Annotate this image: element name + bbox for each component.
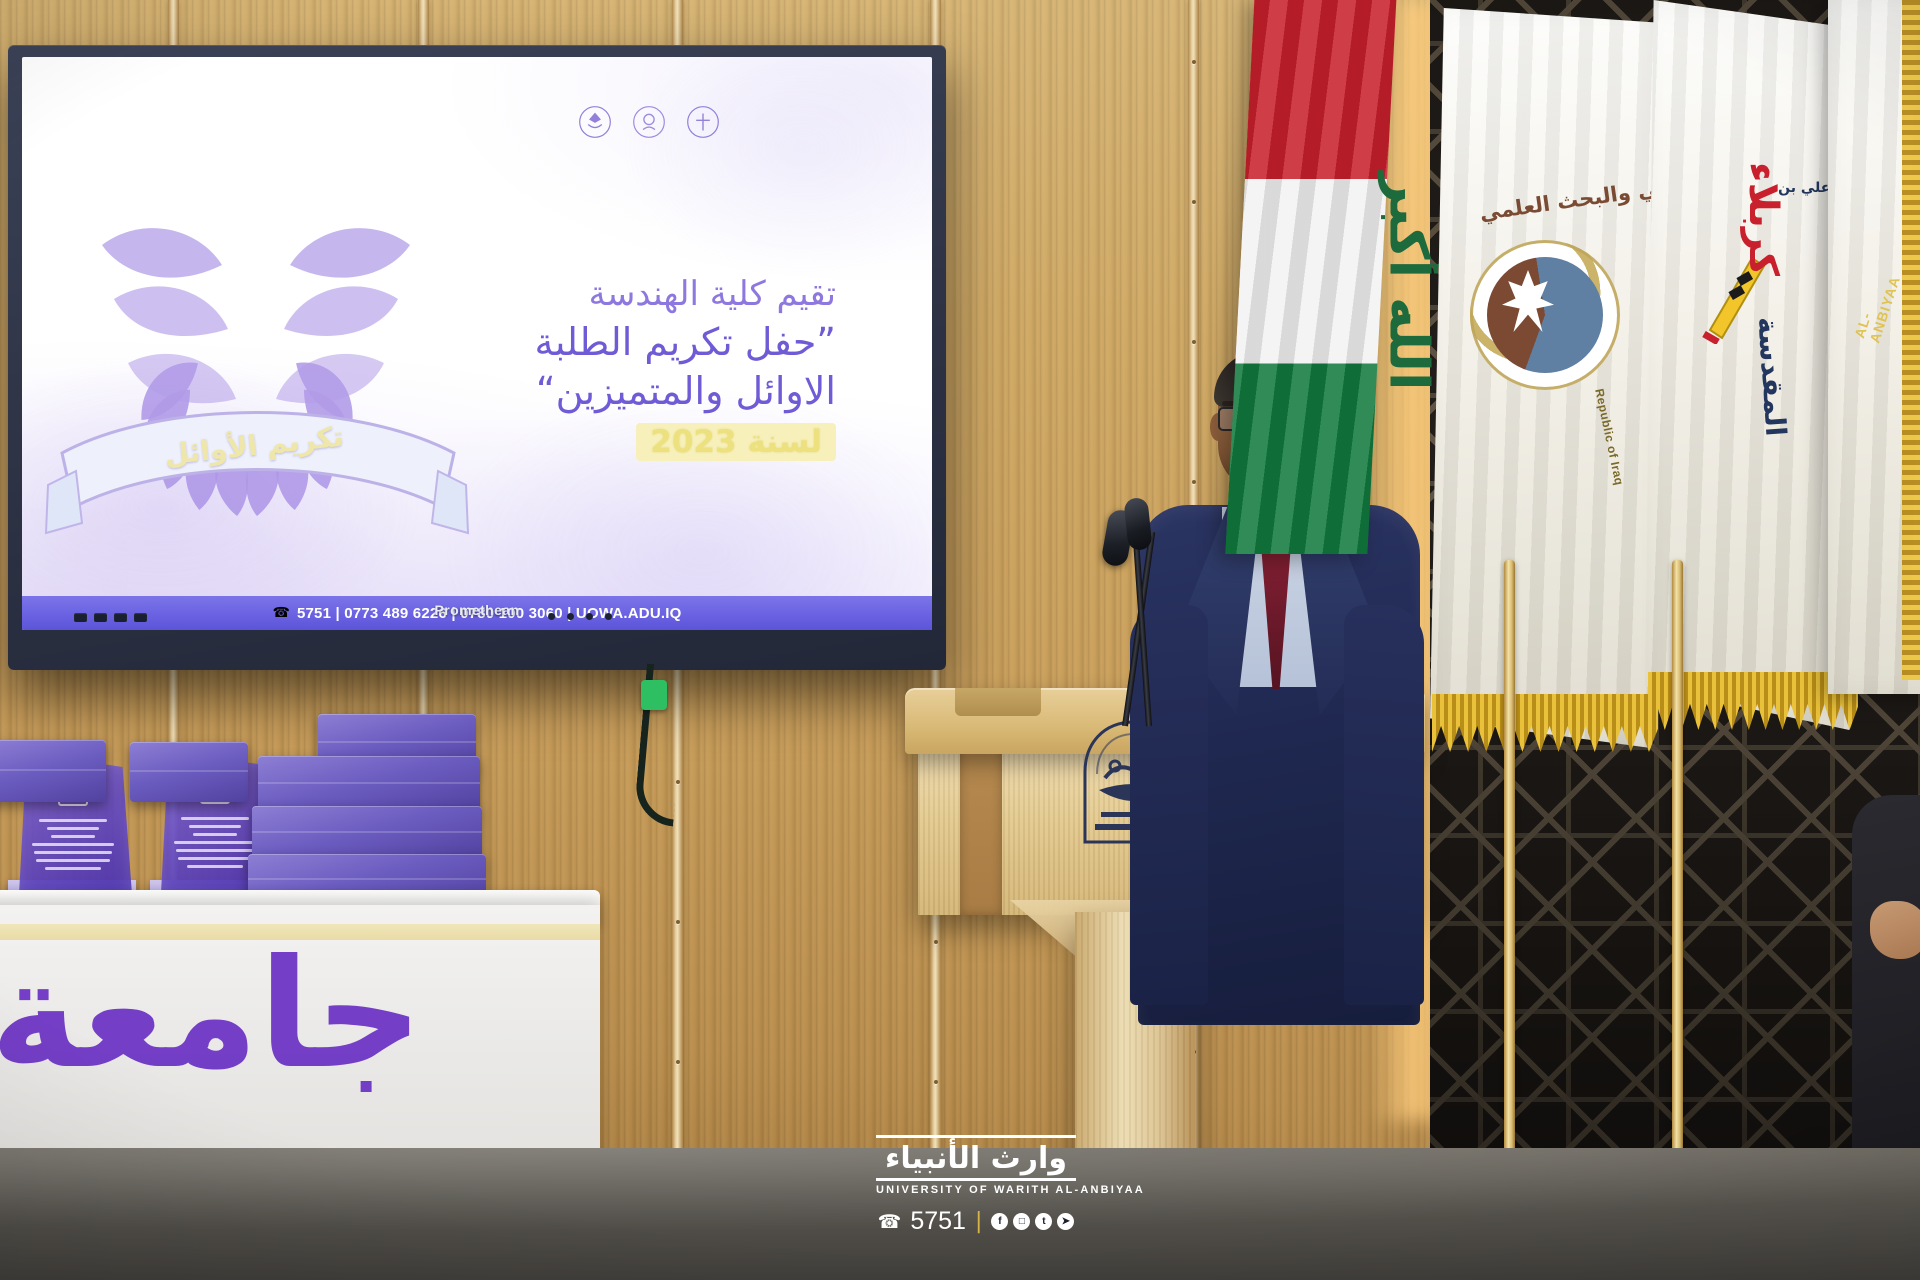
watermark-phone-number: 5751	[910, 1207, 966, 1236]
watermark-english: UNIVERSITY OF WARITH AL-ANBIYAA	[876, 1184, 1076, 1196]
flag-arabic-takbir: الله أكبر	[1377, 173, 1440, 391]
promethean-interactive-display[interactable]: تكريم الأوائل	[8, 45, 946, 670]
display-control-buttons[interactable]	[548, 613, 612, 620]
slide-line-1: تقيم كلية الهندسة	[276, 271, 836, 318]
gift-box[interactable]	[252, 806, 482, 860]
gift-box[interactable]	[258, 756, 480, 812]
watermark-social-icons[interactable]: f □ t ➤	[991, 1213, 1074, 1230]
slide-year-badge: لسنة 2023	[636, 423, 836, 461]
display-ports	[74, 613, 147, 622]
university-logo-icon	[578, 105, 612, 139]
facebook-icon[interactable]: f	[991, 1213, 1008, 1230]
slide-line-2: ”حفل تكريم الطلبة	[276, 318, 836, 367]
engineering-college-logo-icon	[632, 105, 666, 139]
flag-gold-fringe-side	[1902, 0, 1920, 680]
watermark-separator: |	[975, 1209, 982, 1234]
gift-box[interactable]	[130, 742, 248, 802]
watermark-kufic-arabic: وارث الأنبياء	[876, 1135, 1076, 1181]
cable-connector	[641, 680, 667, 710]
speaker-arm	[1344, 605, 1424, 1005]
photo-scene: تكريم الأوائل	[0, 0, 1920, 1280]
slide-headline-block: تقيم كلية الهندسة ”حفل تكريم الطلبة الاو…	[276, 271, 836, 461]
ministry-emblem	[1470, 240, 1620, 390]
slide-line-3: الاوائل والمتميزين“	[276, 367, 836, 416]
flag-pole	[1504, 560, 1515, 1220]
display-screen[interactable]: تكريم الأوائل	[22, 57, 932, 630]
gift-box[interactable]	[0, 740, 106, 802]
display-chin: Promethean	[22, 590, 932, 630]
telegram-icon[interactable]: ➤	[1057, 1213, 1074, 1230]
university-watermark: وارث الأنبياء UNIVERSITY OF WARITH AL-AN…	[876, 1135, 1076, 1236]
watermark-contact: ☎ 5751 | f □ t ➤	[876, 1207, 1076, 1236]
hand	[1870, 901, 1920, 959]
slide-logo-row	[578, 105, 720, 139]
presentation-slide: تكريم الأوائل	[22, 57, 932, 630]
flag-pole	[1672, 560, 1683, 1220]
display-brand-label: Promethean	[435, 602, 520, 618]
twitter-icon[interactable]: t	[1035, 1213, 1052, 1230]
instagram-icon[interactable]: □	[1013, 1213, 1030, 1230]
table-cloth-stripe-top	[0, 924, 600, 940]
phone-icon: ☎	[878, 1211, 902, 1233]
student-union-logo-icon	[686, 105, 720, 139]
iraq-national-flag	[1225, 0, 1396, 554]
